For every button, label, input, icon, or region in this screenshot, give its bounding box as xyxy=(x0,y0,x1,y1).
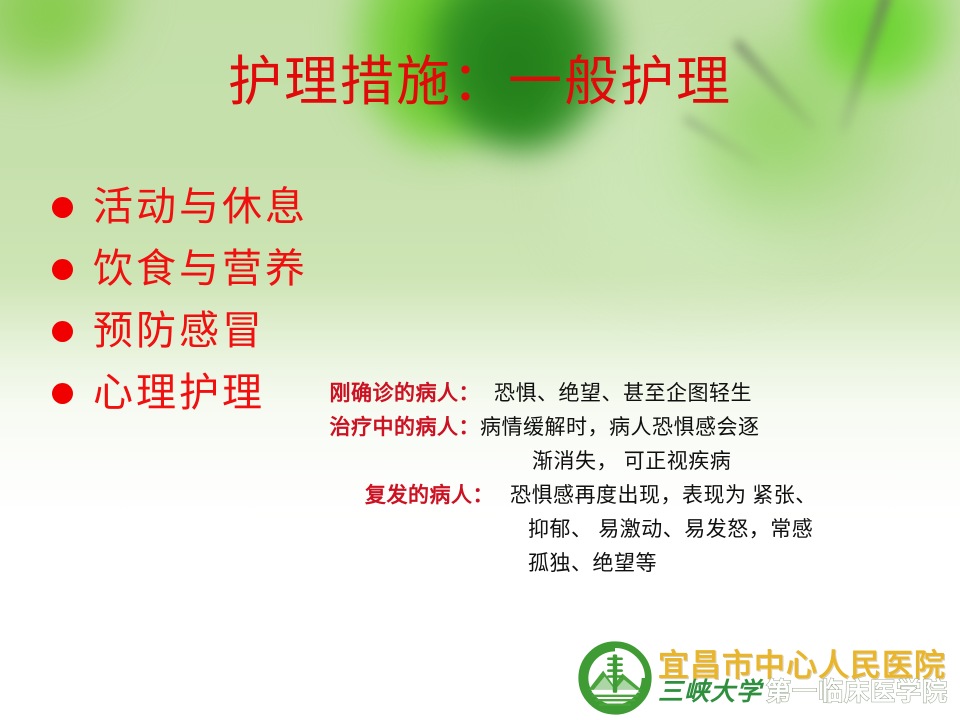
affiliation-university: 三峡大学 xyxy=(658,679,762,706)
filled-circle-bullet-icon xyxy=(52,259,73,280)
hospital-logo-text: 宜昌市中心人民医院 三峡大学第一临床医学院 xyxy=(658,650,960,706)
detail-label: 刚确诊的病人： xyxy=(318,376,480,410)
bullet-label: 活动与休息 xyxy=(93,187,308,227)
affiliation-college: 第一临床医学院 xyxy=(766,679,948,706)
bullet-label: 心理护理 xyxy=(93,373,265,413)
detail-item-in-treatment: 治疗中的病人： 病情缓解时，病人恐惧感会逐 渐消失， 可正视疾病 xyxy=(318,410,898,478)
slide-title: 护理措施：一般护理 xyxy=(0,52,960,112)
filled-circle-bullet-icon xyxy=(52,383,73,404)
detail-body: 恐惧、绝望、甚至企图轻生 xyxy=(480,376,752,410)
detail-body: 抑郁、 易激动、易发怒，常感 xyxy=(318,512,813,546)
detail-label: 治疗中的病人： xyxy=(318,410,480,444)
detail-line-continuation: 渐消失， 可正视疾病 xyxy=(318,444,898,478)
slide-canvas: 护理措施：一般护理 活动与休息 饮食与营养 预防感冒 心理护理 刚确诊的病人： … xyxy=(0,0,960,720)
filled-circle-bullet-icon xyxy=(52,321,73,342)
hospital-circle-emblem-icon xyxy=(578,641,652,715)
detail-item-newly-diagnosed: 刚确诊的病人： 恐惧、绝望、甚至企图轻生 xyxy=(318,376,898,410)
detail-body: 渐消失， 可正视疾病 xyxy=(318,444,731,478)
hospital-logo: 宜昌市中心人民医院 三峡大学第一临床医学院 xyxy=(578,636,960,720)
detail-body: 孤独、绝望等 xyxy=(318,546,657,580)
detail-body: 恐惧感再度出现，表现为 紧张、 xyxy=(494,478,817,512)
list-item: 预防感冒 xyxy=(52,302,382,360)
bullet-label: 饮食与营养 xyxy=(93,249,308,289)
detail-line-continuation: 抑郁、 易激动、易发怒，常感 xyxy=(318,512,898,546)
detail-line-continuation: 孤独、绝望等 xyxy=(318,546,898,580)
bullet-label: 预防感冒 xyxy=(93,311,265,351)
detail-line: 刚确诊的病人： 恐惧、绝望、甚至企图轻生 xyxy=(318,376,898,410)
psychological-care-details: 刚确诊的病人： 恐惧、绝望、甚至企图轻生 治疗中的病人： 病情缓解时，病人恐惧感… xyxy=(318,376,898,580)
list-item: 活动与休息 xyxy=(52,178,382,236)
hospital-affiliation: 三峡大学第一临床医学院 xyxy=(658,680,960,706)
detail-item-relapsed: 复发的病人： 恐惧感再度出现，表现为 紧张、 抑郁、 易激动、易发怒，常感 孤独… xyxy=(318,478,898,580)
filled-circle-bullet-icon xyxy=(52,197,73,218)
detail-line: 治疗中的病人： 病情缓解时，病人恐惧感会逐 xyxy=(318,410,898,444)
hospital-name: 宜昌市中心人民医院 xyxy=(658,650,960,682)
detail-body: 病情缓解时，病人恐惧感会逐 xyxy=(480,410,760,444)
list-item: 饮食与营养 xyxy=(52,240,382,298)
detail-line: 复发的病人： 恐惧感再度出现，表现为 紧张、 xyxy=(318,478,898,512)
detail-label: 复发的病人： xyxy=(318,478,494,512)
